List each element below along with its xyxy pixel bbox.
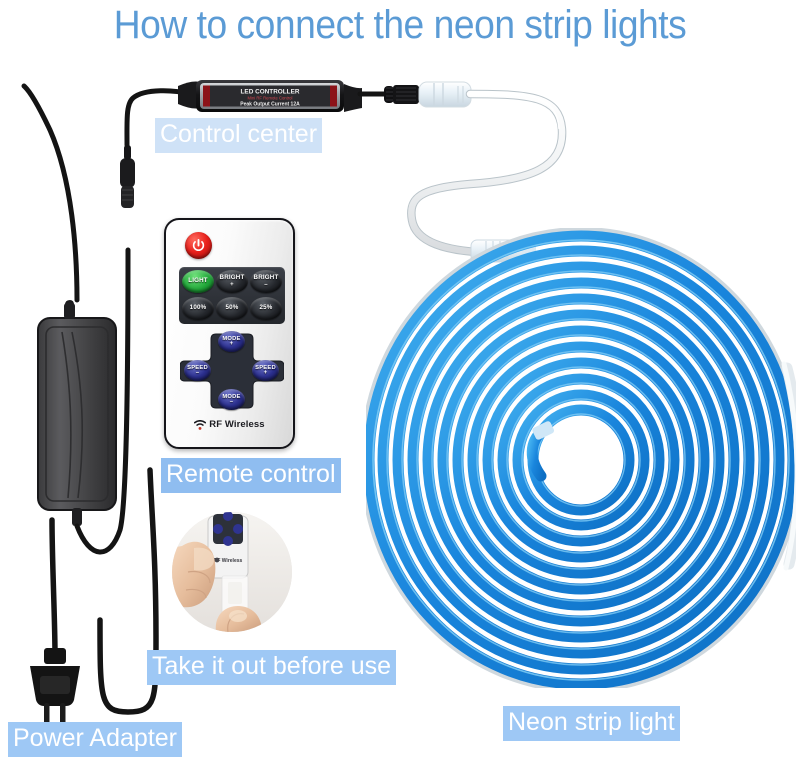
mode-speed-dpad: MODE + SPEED – SPEED + MODE – xyxy=(180,332,284,410)
led-controller-box: LED CONTROLLER Mini RF Remote Control Pe… xyxy=(178,80,362,112)
battery-tab-illustration: RF Wireless xyxy=(172,512,292,632)
light-button[interactable]: LIGHT xyxy=(182,270,214,293)
coil-inner-end xyxy=(531,420,555,476)
bright-down-sub: – xyxy=(264,283,268,288)
bright-down-button[interactable]: BRIGHT – xyxy=(250,270,282,293)
speed-down-button[interactable]: SPEED – xyxy=(184,360,211,381)
coil-rings xyxy=(367,234,796,686)
rf-wireless-label: RF Wireless xyxy=(209,419,264,430)
mode-down-sub: – xyxy=(230,400,234,405)
bright-up-sub: + xyxy=(230,283,234,288)
callout-remote-control: Remote control xyxy=(161,458,341,493)
mode-down-button[interactable]: MODE – xyxy=(218,389,245,410)
controller-spec: Peak Output Current 12A xyxy=(240,102,300,108)
remote-control[interactable]: LIGHT BRIGHT + BRIGHT – 100% 50% 25% xyxy=(164,218,295,449)
neon-strip-light-coil xyxy=(366,228,796,688)
callout-control-center: Control center xyxy=(155,118,322,153)
speed-up-button[interactable]: SPEED + xyxy=(252,360,279,381)
controller-brand: LED CONTROLLER xyxy=(241,88,300,95)
controller-subtitle: Mini RF Remote Control xyxy=(248,95,293,100)
callout-take-it-out: Take it out before use xyxy=(147,650,396,685)
callout-neon-strip-light: Neon strip light xyxy=(503,706,680,741)
power-icon xyxy=(191,238,206,253)
speed-down-sub: – xyxy=(196,371,200,376)
brightness-25-label: 25% xyxy=(260,305,273,312)
infographic-canvas: How to connect the neon strip lights xyxy=(0,0,800,760)
brightness-50-label: 50% xyxy=(226,305,239,312)
controller-output-lead xyxy=(360,82,471,107)
callout-power-adapter: Power Adapter xyxy=(8,722,182,757)
brightness-key-panel: LIGHT BRIGHT + BRIGHT – 100% 50% 25% xyxy=(179,267,285,324)
mode-up-sub: + xyxy=(230,342,234,347)
brightness-50-button[interactable]: 50% xyxy=(216,297,248,320)
mode-up-button[interactable]: MODE + xyxy=(218,331,245,352)
brightness-25-button[interactable]: 25% xyxy=(250,297,282,320)
dc-male-plug xyxy=(384,85,419,104)
power-adapter-brick xyxy=(38,300,116,526)
bright-up-button[interactable]: BRIGHT + xyxy=(216,270,248,293)
power-button[interactable] xyxy=(185,232,212,259)
ac-plug-icon xyxy=(30,648,80,729)
speed-up-sub: + xyxy=(264,371,268,376)
rf-wireless-footer: RF Wireless xyxy=(166,419,293,430)
battery-tab-inset-photo: RF Wireless xyxy=(172,512,292,632)
brightness-100-label: 100% xyxy=(190,305,207,312)
waterproof-connector xyxy=(419,82,471,107)
brightness-100-button[interactable]: 100% xyxy=(182,297,214,320)
wifi-icon xyxy=(194,420,206,430)
light-button-label: LIGHT xyxy=(188,278,208,285)
dc-barrel-connector xyxy=(120,145,135,208)
